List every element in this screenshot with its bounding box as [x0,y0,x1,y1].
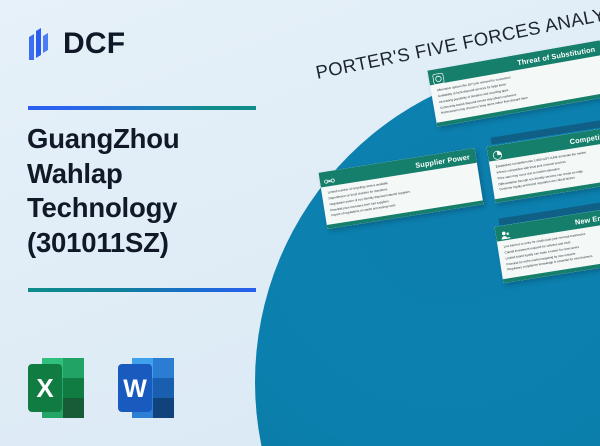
excel-file-icon[interactable]: X [28,358,84,418]
page-title: GuangZhou Wahlap Technology (301011SZ) [27,122,277,261]
svg-text:W: W [123,375,147,403]
left-panel: DCF GuangZhou Wahlap Technology (301011S… [0,0,300,446]
brand-name: DCF [63,29,125,59]
slide-canvas: DCF GuangZhou Wahlap Technology (301011S… [0,0,600,446]
user-group-icon [499,226,512,239]
handshake-link-icon [323,172,336,185]
brand-logo[interactable]: DCF [28,27,125,61]
divider-top [28,106,256,110]
word-file-icon[interactable]: W [118,358,174,418]
document-icons: X W [28,358,174,418]
force-card-supplier-power[interactable]: Supplier Power Limited number of recycli… [318,148,483,229]
recycle-circle-icon [432,70,445,83]
svg-text:X: X [36,373,54,403]
porters-five-forces-diagram: PORTER'S FIVE FORCES ANALYSIS Threat of … [300,0,600,446]
pie-chart-icon [491,146,504,159]
divider-bottom [28,288,256,292]
bar-chart-logo-icon [28,27,54,61]
